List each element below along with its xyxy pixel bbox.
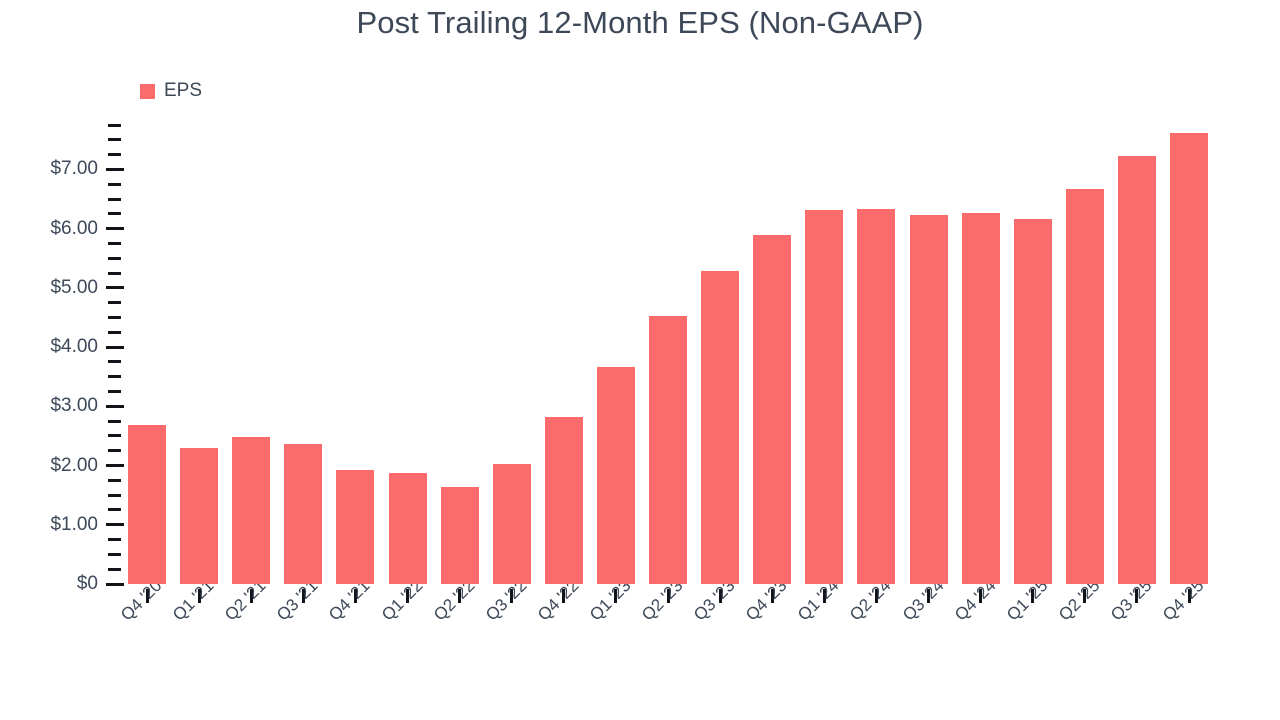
bar-rect[interactable] (649, 316, 687, 584)
bar-q222[interactable] (441, 125, 479, 584)
bar-rect[interactable] (805, 210, 843, 584)
bar-q422[interactable] (545, 125, 583, 584)
bar-rect[interactable] (1066, 189, 1104, 584)
bar-q420[interactable] (128, 125, 166, 584)
bar-q123[interactable] (597, 125, 635, 584)
bar-rect[interactable] (753, 235, 791, 584)
bar-q224[interactable] (857, 125, 895, 584)
bar-q424[interactable] (962, 125, 1000, 584)
bar-rect[interactable] (701, 271, 739, 584)
bar-q423[interactable] (753, 125, 791, 584)
bar-rect[interactable] (389, 473, 427, 584)
bar-rect[interactable] (857, 209, 895, 584)
bar-q323[interactable] (701, 125, 739, 584)
bar-rect[interactable] (910, 215, 948, 584)
bar-rect[interactable] (962, 213, 1000, 584)
bar-q223[interactable] (649, 125, 687, 584)
bar-rect[interactable] (1170, 133, 1208, 584)
bar-q124[interactable] (805, 125, 843, 584)
bar-rect[interactable] (128, 425, 166, 584)
bar-q425[interactable] (1170, 125, 1208, 584)
bar-rect[interactable] (441, 487, 479, 584)
bar-rect[interactable] (180, 448, 218, 584)
bar-rect[interactable] (1014, 219, 1052, 584)
bar-q221[interactable] (232, 125, 270, 584)
bar-q122[interactable] (389, 125, 427, 584)
bar-rect[interactable] (597, 367, 635, 584)
bar-q125[interactable] (1014, 125, 1052, 584)
bar-q325[interactable] (1118, 125, 1156, 584)
bar-q225[interactable] (1066, 125, 1104, 584)
bar-group (128, 125, 1237, 584)
chart-container: Post Trailing 12-Month EPS (Non-GAAP) EP… (0, 0, 1280, 720)
bar-rect[interactable] (232, 437, 270, 584)
bar-rect[interactable] (545, 417, 583, 584)
bar-rect[interactable] (1118, 156, 1156, 584)
bar-q321[interactable] (284, 125, 322, 584)
bar-q421[interactable] (336, 125, 374, 584)
bar-q322[interactable] (493, 125, 531, 584)
plot-area (128, 125, 1237, 584)
bar-q324[interactable] (910, 125, 948, 584)
bar-rect[interactable] (284, 444, 322, 584)
bar-rect[interactable] (493, 464, 531, 584)
bar-q121[interactable] (180, 125, 218, 584)
bar-rect[interactable] (336, 470, 374, 584)
